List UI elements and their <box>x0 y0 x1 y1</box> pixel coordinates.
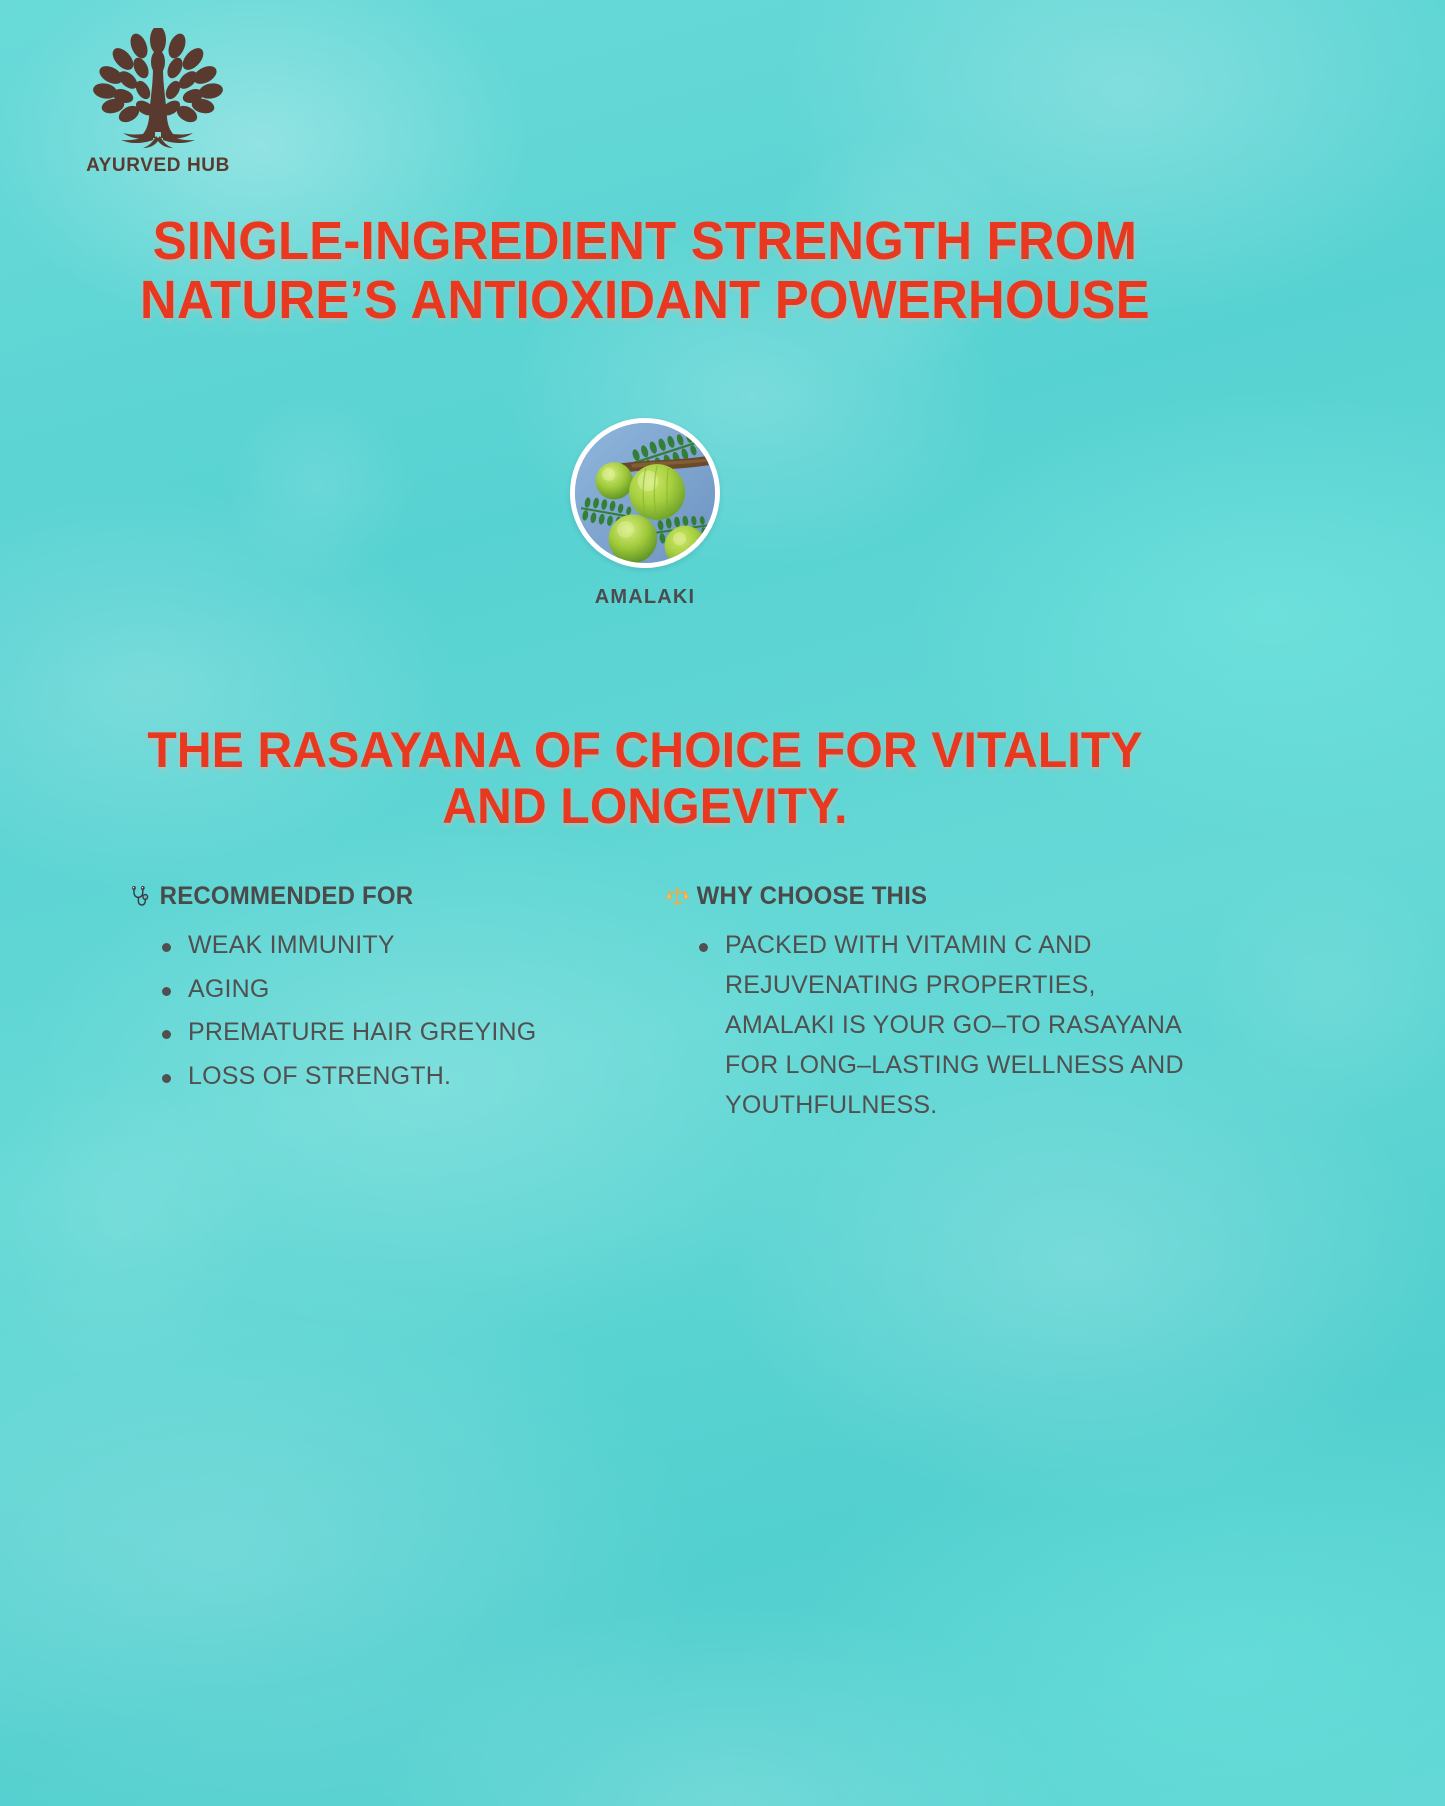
ingredient-label: AMALAKI <box>0 586 1290 609</box>
tree-icon <box>58 28 258 150</box>
list-item: PACKED WITH VITAMIN C AND REJUVENATING P… <box>699 925 1185 1125</box>
column-header: WHY CHOOSE THIS <box>665 882 1164 911</box>
headline-line-1: SINGLE-INGREDIENT STRENGTH FROM <box>153 211 1137 271</box>
balance-scale-icon <box>665 884 690 910</box>
list-item: AGING <box>162 969 648 1010</box>
column-title: WHY CHOOSE THIS <box>697 882 927 911</box>
list-item: PREMATURE HAIR GREYING <box>162 1012 648 1053</box>
headline-line-2: NATURE’S ANTIOXIDANT POWERHOUSE <box>39 271 1252 330</box>
column-title: RECOMMENDED FOR <box>160 882 414 911</box>
ingredient-image <box>570 418 720 568</box>
list-item: WEAK IMMUNITY <box>162 925 648 966</box>
list-item: LOSS OF STRENGTH. <box>162 1056 648 1097</box>
ingredient-block: AMALAKI <box>0 418 1290 609</box>
column-header: RECOMMENDED FOR <box>128 882 627 911</box>
stethoscope-icon <box>128 884 153 910</box>
brand-logo: AYURVED HUB <box>58 28 258 177</box>
page-title: SINGLE-INGREDIENT STRENGTH FROM NATURE’S… <box>39 212 1252 330</box>
subheading-line-1: THE RASAYANA OF CHOICE FOR VITALITY <box>147 722 1142 778</box>
column-recommended-for: RECOMMENDED FOR WEAK IMMUNITY AGING PREM… <box>128 882 648 1099</box>
column-why-choose-this: WHY CHOOSE THIS PACKED WITH VITAMIN C AN… <box>665 882 1185 1128</box>
subheading: THE RASAYANA OF CHOICE FOR VITALITY AND … <box>26 722 1264 834</box>
recommended-for-list: WEAK IMMUNITY AGING PREMATURE HAIR GREYI… <box>128 925 648 1096</box>
poster-canvas: AYURVED HUB SINGLE-INGREDIENT STRENGTH F… <box>0 0 1445 1806</box>
brand-name: AYURVED HUB <box>58 155 258 177</box>
why-choose-this-list: PACKED WITH VITAMIN C AND REJUVENATING P… <box>665 925 1185 1125</box>
subheading-line-2: AND LONGEVITY. <box>26 778 1264 834</box>
